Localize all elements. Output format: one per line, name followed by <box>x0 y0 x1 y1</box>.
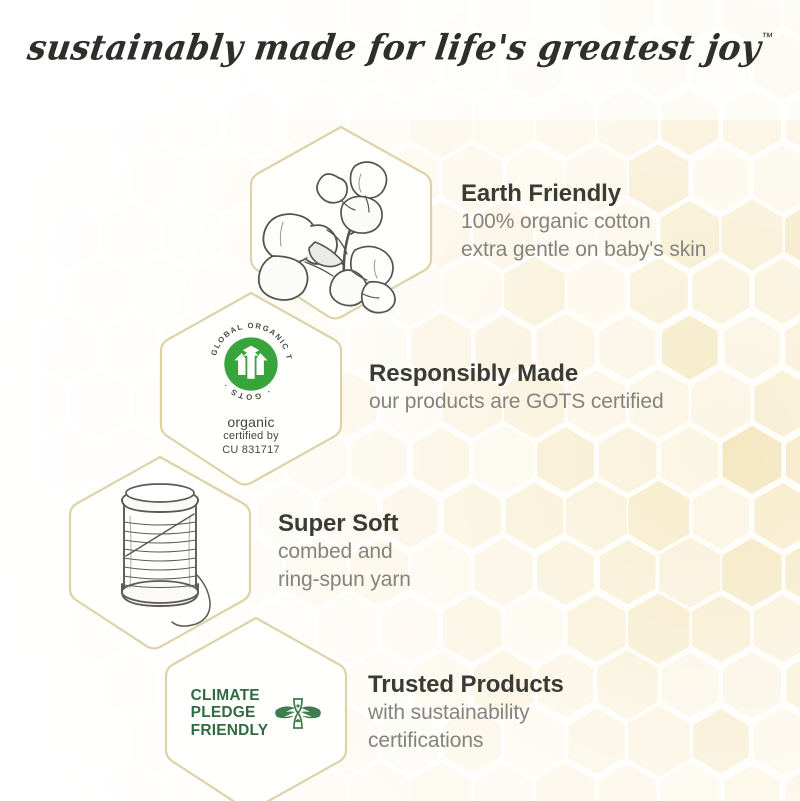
feature-title: Super Soft <box>278 510 411 538</box>
climate-pledge-badge: CLIMATE PLEDGE FRIENDLY <box>158 613 354 801</box>
gots-certification-icon: GLOBAL ORGANIC TEXTILE STANDARD · GOTS · <box>205 318 297 410</box>
feature-trusted-products: CLIMATE PLEDGE FRIENDLY <box>158 613 564 801</box>
hexagon-frame-climate-pledge: CLIMATE PLEDGE FRIENDLY <box>158 613 354 801</box>
feature-title: Responsibly Made <box>369 360 664 388</box>
marketing-infographic: sustainably made for life's greatest joy… <box>0 0 800 801</box>
gots-certified-by-label: certified by <box>222 430 279 444</box>
trademark-symbol: ™ <box>760 30 774 44</box>
climate-pledge-wordmark: CLIMATE PLEDGE FRIENDLY <box>191 687 269 739</box>
cpf-line-3: FRIENDLY <box>191 722 269 739</box>
feature-soft-copy: Super Soft combed and ring-spun yarn <box>274 510 411 594</box>
cpf-line-1: CLIMATE <box>191 687 269 704</box>
feature-title: Earth Friendly <box>461 180 706 208</box>
feature-title: Trusted Products <box>368 671 564 699</box>
page-headline: sustainably made for life's greatest joy… <box>0 28 800 67</box>
winged-hourglass-icon <box>275 695 321 731</box>
feature-line: combed and <box>278 538 411 566</box>
feature-responsible-copy: Responsibly Made our products are GOTS c… <box>365 360 664 416</box>
feature-line: with sustainability <box>368 699 564 727</box>
feature-line: our products are GOTS certified <box>369 388 664 416</box>
feature-line: ring-spun yarn <box>278 566 411 594</box>
headline-text: sustainably made for life's greatest joy <box>25 27 764 68</box>
feature-line: 100% organic cotton <box>461 208 706 236</box>
feature-line: certifications <box>368 727 564 755</box>
feature-line: extra gentle on baby's skin <box>461 236 706 264</box>
feature-earth-copy: Earth Friendly 100% organic cotton extra… <box>457 180 706 264</box>
cpf-line-2: PLEDGE <box>191 704 269 721</box>
feature-trusted-copy: Trusted Products with sustainability cer… <box>364 671 564 755</box>
gots-organic-label: organic <box>222 414 279 430</box>
